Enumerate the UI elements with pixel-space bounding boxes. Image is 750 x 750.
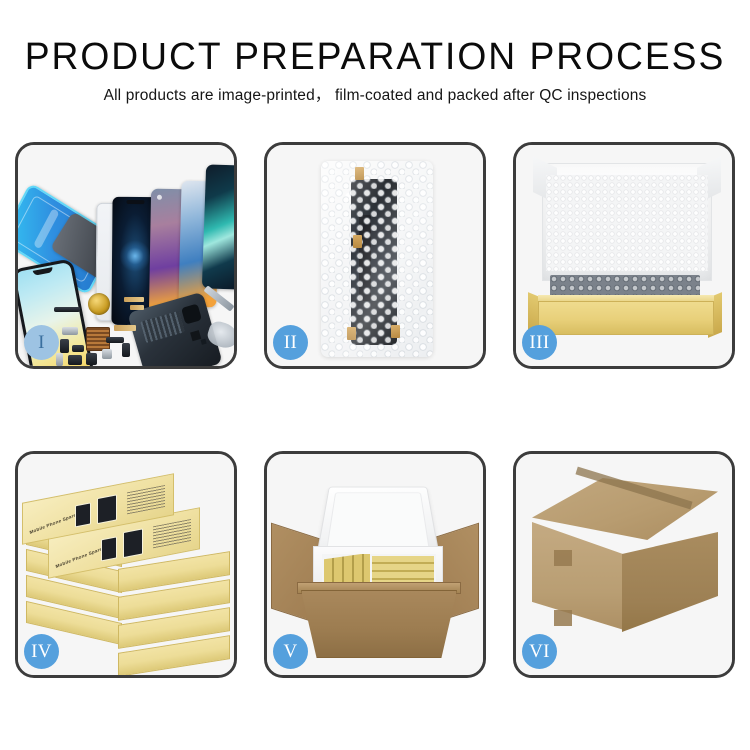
part-vibration-motor bbox=[88, 293, 110, 315]
panel-3-stage: III bbox=[516, 145, 732, 366]
part-bracket-3 bbox=[72, 345, 84, 352]
part-bracket-2 bbox=[60, 339, 69, 353]
panel-6-stage: VI bbox=[516, 454, 732, 675]
box-spec-lines-2 bbox=[153, 519, 191, 548]
carton-tape-tab-bottom bbox=[554, 610, 572, 626]
part-speaker-mesh bbox=[54, 307, 80, 312]
step-badge-2: II bbox=[273, 325, 308, 360]
foam-sheet-image bbox=[546, 175, 708, 271]
carton-tape-tab-top bbox=[554, 550, 572, 566]
panel-bubble-wrapped-screen[interactable]: II bbox=[264, 142, 486, 369]
part-shield-plate bbox=[106, 337, 124, 343]
step-badge-4: IV bbox=[24, 634, 59, 669]
panel-stacked-retail-boxes[interactable]: Mobile Phone Spare Parts Mobile Phone Sp… bbox=[15, 451, 237, 678]
panel-products-overview[interactable]: I bbox=[15, 142, 237, 369]
carton-left-face bbox=[532, 522, 624, 630]
box-spec-lines-1 bbox=[127, 485, 165, 514]
bag-highlight bbox=[321, 161, 433, 357]
part-button-flex bbox=[86, 353, 97, 365]
bubble-wrap-bag-image bbox=[321, 161, 433, 357]
step-badge-5: V bbox=[273, 634, 308, 669]
panel-4-stage: Mobile Phone Spare Parts Mobile Phone Sp… bbox=[18, 454, 234, 675]
part-connector bbox=[102, 349, 112, 359]
panel-5-stage: V bbox=[267, 454, 483, 675]
step-badge-3: III bbox=[522, 325, 557, 360]
part-flex-cable-3 bbox=[114, 325, 136, 331]
part-sim-tray bbox=[56, 353, 63, 366]
part-side-key bbox=[122, 343, 130, 357]
yellow-box-front bbox=[538, 301, 714, 335]
step-badge-1: I bbox=[24, 325, 59, 360]
box-window-print-1b bbox=[97, 494, 117, 524]
part-bracket-1 bbox=[62, 327, 78, 335]
product-preparation-infographic: PRODUCT PREPARATION PROCESS All products… bbox=[0, 0, 750, 750]
panel-styrofoam-packing[interactable]: V bbox=[264, 451, 486, 678]
carton-right-face bbox=[622, 532, 718, 632]
box-window-print-2b bbox=[123, 528, 143, 558]
carton-front-face bbox=[301, 590, 457, 658]
panel-open-inner-box[interactable]: III bbox=[513, 142, 735, 369]
process-step-grid: I II bbox=[15, 142, 735, 678]
header: PRODUCT PREPARATION PROCESS All products… bbox=[0, 36, 750, 105]
box-window-print-2a bbox=[101, 536, 117, 561]
page-subtitle: All products are image-printed， film-coa… bbox=[0, 86, 750, 105]
step-badge-6: VI bbox=[522, 634, 557, 669]
teal-wave-phone-image bbox=[202, 164, 237, 289]
part-flex-cable-1 bbox=[124, 297, 144, 302]
box-window-print-1a bbox=[75, 502, 91, 527]
part-camera-module bbox=[68, 355, 82, 365]
part-flex-cable-2 bbox=[130, 305, 144, 310]
page-title: PRODUCT PREPARATION PROCESS bbox=[8, 36, 743, 78]
panel-2-stage: II bbox=[267, 145, 483, 366]
panel-sealed-shipping-carton[interactable]: VI bbox=[513, 451, 735, 678]
panel-1-stage: I bbox=[18, 145, 234, 366]
